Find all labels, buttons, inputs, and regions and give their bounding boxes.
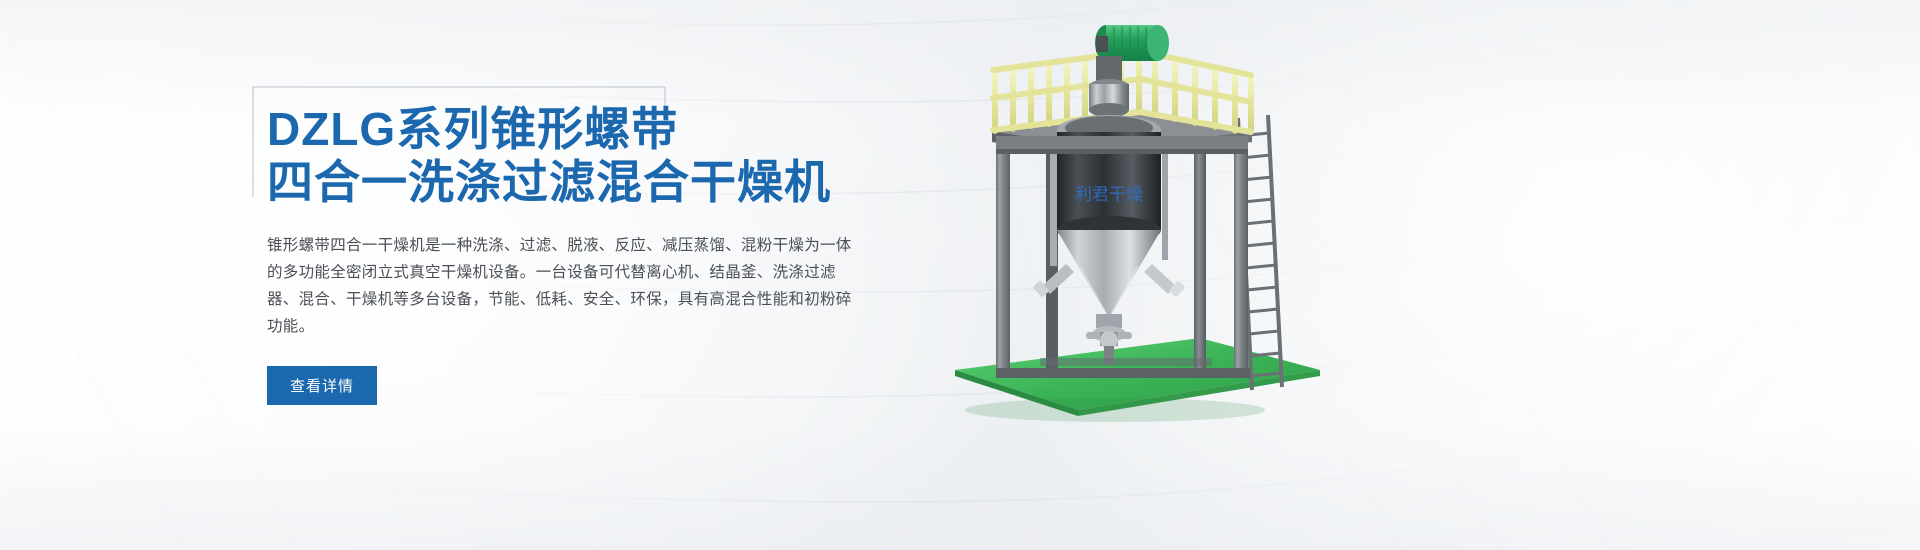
drive-motor — [1095, 25, 1169, 61]
hero-copy: DZLG系列锥形螺带 四合一洗涤过滤混合干燥机 锥形螺带四合一干燥机是一种洗涤、… — [252, 86, 892, 361]
page-title: DZLG系列锥形螺带 四合一洗涤过滤混合干燥机 — [267, 86, 892, 209]
hero-banner: DZLG系列锥形螺带 四合一洗涤过滤混合干燥机 锥形螺带四合一干燥机是一种洗涤、… — [0, 0, 1920, 550]
ground-shadow — [965, 398, 1265, 422]
view-details-button[interactable]: 查看详情 — [267, 366, 377, 405]
frame-top-beam — [996, 136, 1248, 154]
product-image: 利君干燥 — [900, 18, 1420, 438]
product-description: 锥形螺带四合一干燥机是一种洗涤、过滤、脱液、反应、减压蒸馏、混粉干燥为一体的多功… — [267, 232, 867, 340]
title-line-1: DZLG系列锥形螺带 — [267, 103, 678, 155]
title-line-2: 四合一洗涤过滤混合干燥机 — [267, 156, 892, 209]
dryer-machine-render: 利君干燥 — [900, 18, 1420, 438]
